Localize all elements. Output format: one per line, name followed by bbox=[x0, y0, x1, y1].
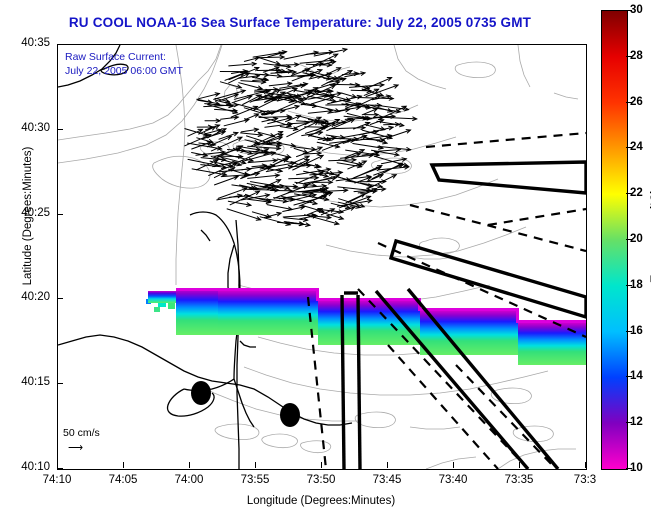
y-axis-tick-label: 40:35 bbox=[0, 37, 50, 49]
x-axis-tick-label: 73:40 bbox=[433, 474, 473, 486]
colorbar-tick-label: 28 bbox=[630, 50, 643, 62]
x-axis-tick bbox=[585, 462, 586, 468]
scale-bar-arrow-icon: ⟶ bbox=[68, 442, 100, 455]
y-axis-tick bbox=[57, 468, 63, 469]
y-axis-tick bbox=[57, 214, 63, 215]
annotation-line-1: Raw Surface Current: bbox=[65, 50, 183, 64]
surface-current-vectors bbox=[185, 48, 417, 226]
colorbar-tick-label: 12 bbox=[630, 416, 643, 428]
colorbar bbox=[601, 10, 628, 470]
sst-segment bbox=[148, 291, 176, 303]
x-axis-tick-label: 74:00 bbox=[169, 474, 209, 486]
colorbar-tick-label: 14 bbox=[630, 370, 643, 382]
colorbar-tick-label: 30 bbox=[630, 4, 643, 16]
bathymetry-contours bbox=[58, 45, 578, 469]
scale-bar: 50 cm/s ⟶ bbox=[63, 427, 100, 455]
raw-surface-current-annotation: Raw Surface Current: July 22, 2005 06:00… bbox=[65, 50, 183, 78]
y-axis-tick bbox=[57, 129, 63, 130]
colorbar-tick-label: 26 bbox=[630, 96, 643, 108]
y-axis-title: Latitude (Degrees:Minutes) bbox=[22, 96, 34, 336]
x-axis-tick-label: 73:35 bbox=[499, 474, 539, 486]
station-marker bbox=[191, 381, 211, 405]
x-axis-tick-label: 73:3 bbox=[565, 474, 605, 486]
coastline bbox=[58, 45, 352, 469]
y-axis-tick bbox=[57, 44, 63, 45]
x-axis-tick-label: 73:50 bbox=[301, 474, 341, 486]
x-axis-tick-label: 73:45 bbox=[367, 474, 407, 486]
x-axis-tick bbox=[123, 462, 124, 468]
station-markers bbox=[191, 381, 300, 427]
sst-map-figure: RU COOL NOAA-16 Sea Surface Temperature:… bbox=[0, 0, 651, 518]
colorbar-tick-label: 18 bbox=[630, 279, 643, 291]
x-axis-tick-label: 74:05 bbox=[103, 474, 143, 486]
station-marker bbox=[280, 403, 300, 427]
x-axis-tick-label: 73:55 bbox=[235, 474, 275, 486]
colorbar-gradient bbox=[602, 11, 627, 469]
sst-swath-band bbox=[146, 288, 586, 365]
map-canvas bbox=[58, 45, 586, 469]
y-axis-tick bbox=[57, 383, 63, 384]
colorbar-tick-label: 20 bbox=[630, 233, 643, 245]
x-axis-title: Longitude (Degrees:Minutes) bbox=[57, 495, 585, 507]
sst-segment bbox=[176, 289, 218, 335]
sst-segment bbox=[218, 291, 318, 335]
x-axis-tick bbox=[255, 462, 256, 468]
scale-bar-label: 50 cm/s bbox=[63, 427, 100, 440]
map-plot-area: Raw Surface Current: July 22, 2005 06:00… bbox=[57, 44, 587, 470]
y-axis-tick bbox=[57, 298, 63, 299]
x-axis-tick bbox=[453, 462, 454, 468]
x-axis-tick bbox=[189, 462, 190, 468]
figure-title: RU COOL NOAA-16 Sea Surface Temperature:… bbox=[0, 15, 600, 30]
x-axis-tick bbox=[321, 462, 322, 468]
sst-segment bbox=[518, 323, 586, 365]
sst-segment bbox=[420, 311, 518, 355]
x-axis-tick-label: 74:10 bbox=[37, 474, 77, 486]
colorbar-tick-label: 16 bbox=[630, 325, 643, 337]
colorbar-tick-label: 10 bbox=[630, 462, 643, 474]
y-axis-tick-label: 40:10 bbox=[0, 461, 50, 473]
colorbar-tick-label: 22 bbox=[630, 187, 643, 199]
x-axis-tick bbox=[519, 462, 520, 468]
x-axis-tick bbox=[387, 462, 388, 468]
colorbar-tick-label: 24 bbox=[630, 141, 643, 153]
y-axis-tick-label: 40:15 bbox=[0, 376, 50, 388]
annotation-line-2: July 22, 2005 06:00 GMT bbox=[65, 64, 183, 78]
